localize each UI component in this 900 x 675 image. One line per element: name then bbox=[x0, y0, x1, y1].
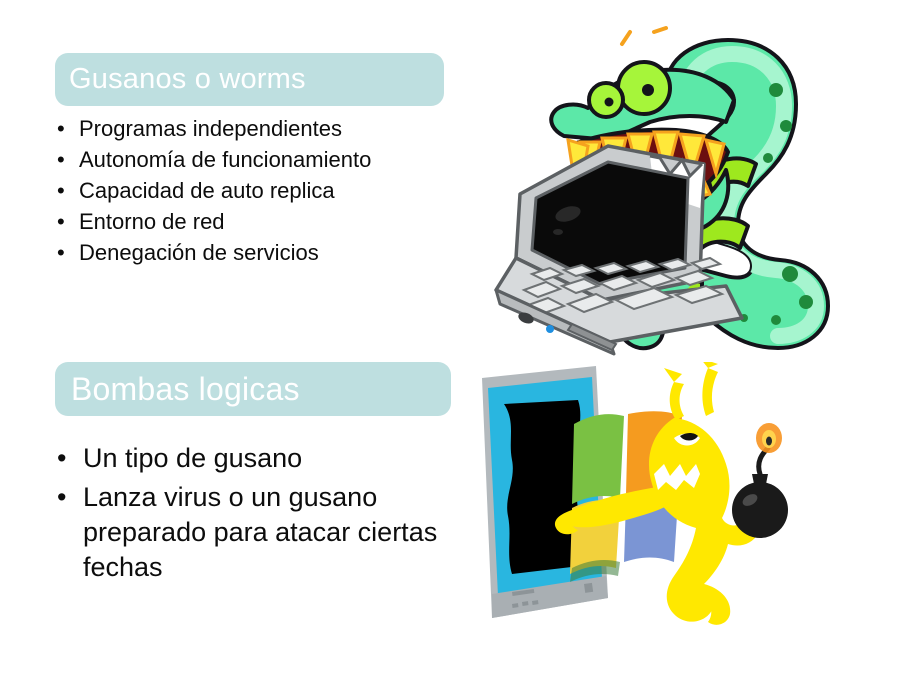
worm-laptop-illustration bbox=[490, 18, 880, 363]
list-item: • Autonomía de funcionamiento bbox=[57, 145, 457, 174]
list-item: • Programas independientes bbox=[57, 114, 457, 143]
bullet-dot-icon: • bbox=[57, 238, 79, 267]
bomb-flame-icon bbox=[756, 423, 782, 453]
section-heading-bombs: Bombas logicas bbox=[55, 362, 451, 416]
bomb-icon bbox=[732, 423, 788, 538]
bullet-dot-icon: • bbox=[57, 176, 79, 205]
list-item: • Capacidad de auto replica bbox=[57, 176, 457, 205]
section-heading-worms: Gusanos o worms bbox=[55, 53, 444, 106]
list-item: • Un tipo de gusano bbox=[57, 441, 457, 476]
laptop-led-icon bbox=[546, 325, 554, 333]
bullet-dot-icon: • bbox=[57, 480, 83, 515]
bullet-dot-icon: • bbox=[57, 145, 79, 174]
list-item-label: Autonomía de funcionamiento bbox=[79, 145, 457, 174]
worm-eye-icon bbox=[589, 62, 670, 117]
worm-spark-icon bbox=[622, 28, 666, 44]
bullet-dot-icon: • bbox=[57, 114, 79, 143]
section-heading-worms-label: Gusanos o worms bbox=[69, 63, 306, 96]
list-item: • Denegación de servicios bbox=[57, 238, 457, 267]
bullet-list-worms: • Programas independientes • Autonomía d… bbox=[57, 114, 457, 269]
bullet-list-bombs: • Un tipo de gusano • Lanza virus o un g… bbox=[57, 441, 457, 589]
list-item-label: Denegación de servicios bbox=[79, 238, 457, 267]
bomb-monster-illustration bbox=[468, 362, 798, 627]
list-item-label: Programas independientes bbox=[79, 114, 457, 143]
list-item-label: Entorno de red bbox=[79, 207, 457, 236]
bullet-dot-icon: • bbox=[57, 441, 83, 476]
list-item: • Lanza virus o un gusano preparado para… bbox=[57, 480, 457, 585]
monster-mouth-icon bbox=[654, 464, 700, 490]
presentation-slide: Gusanos o worms • Programas independient… bbox=[0, 0, 900, 675]
section-heading-bombs-label: Bombas logicas bbox=[71, 371, 300, 408]
list-item-label: Lanza virus o un gusano preparado para a… bbox=[83, 480, 457, 585]
laptop-shape bbox=[496, 146, 742, 354]
list-item-label: Capacidad de auto replica bbox=[79, 176, 457, 205]
list-item: • Entorno de red bbox=[57, 207, 457, 236]
list-item-label: Un tipo de gusano bbox=[83, 441, 457, 476]
bullet-dot-icon: • bbox=[57, 207, 79, 236]
